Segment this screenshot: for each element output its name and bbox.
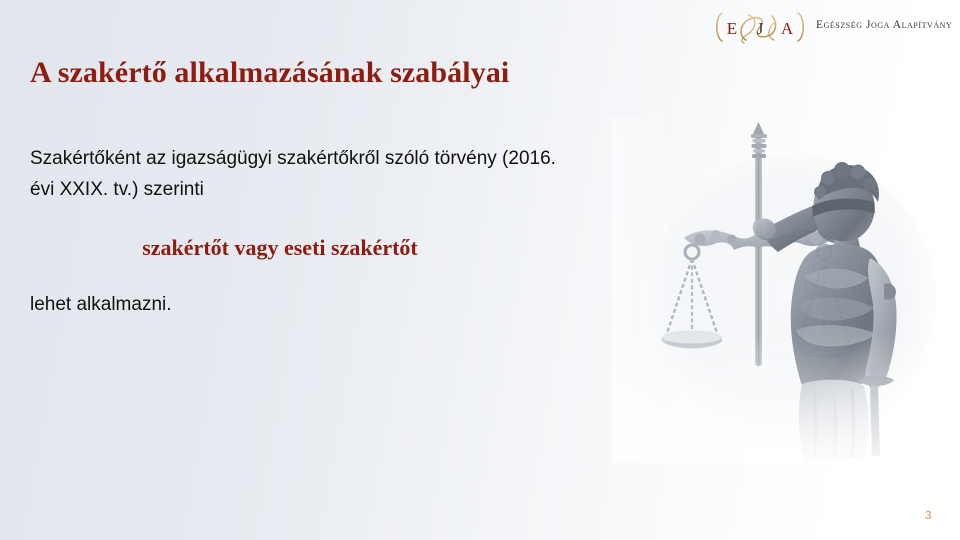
page-number: 3	[925, 508, 932, 522]
slide-canvas: E J A Egészség Joga Alapítvány A szakért…	[0, 0, 960, 540]
svg-text:J: J	[757, 19, 764, 38]
lady-justice-statue	[612, 118, 952, 463]
eja-monogram-logo: E J A	[712, 7, 808, 47]
body-paragraph-line-3: lehet alkalmazni.	[30, 289, 650, 320]
svg-text:A: A	[781, 19, 794, 38]
page-title: A szakértő alkalmazásának szabályai	[30, 54, 650, 92]
organization-name: Egészség Joga Alapítvány	[816, 20, 952, 34]
body-paragraph-line-2: évi XXIX. tv.) szerinti	[30, 174, 650, 205]
svg-text:E: E	[727, 19, 737, 38]
lady-justice-icon	[612, 118, 952, 463]
slide-body: Szakértőként az igazságügyi szakértőkről…	[30, 143, 650, 320]
body-paragraph-line-1: Szakértőként az igazságügyi szakértőkről…	[30, 143, 650, 174]
eja-monogram-icon: E J A	[712, 7, 808, 47]
spacer	[30, 205, 650, 235]
emphasized-phrase: szakértőt vagy eseti szakértőt	[30, 235, 530, 261]
spacer	[30, 261, 650, 289]
organization-logo: E J A Egészség Joga Alapítvány	[712, 6, 952, 48]
